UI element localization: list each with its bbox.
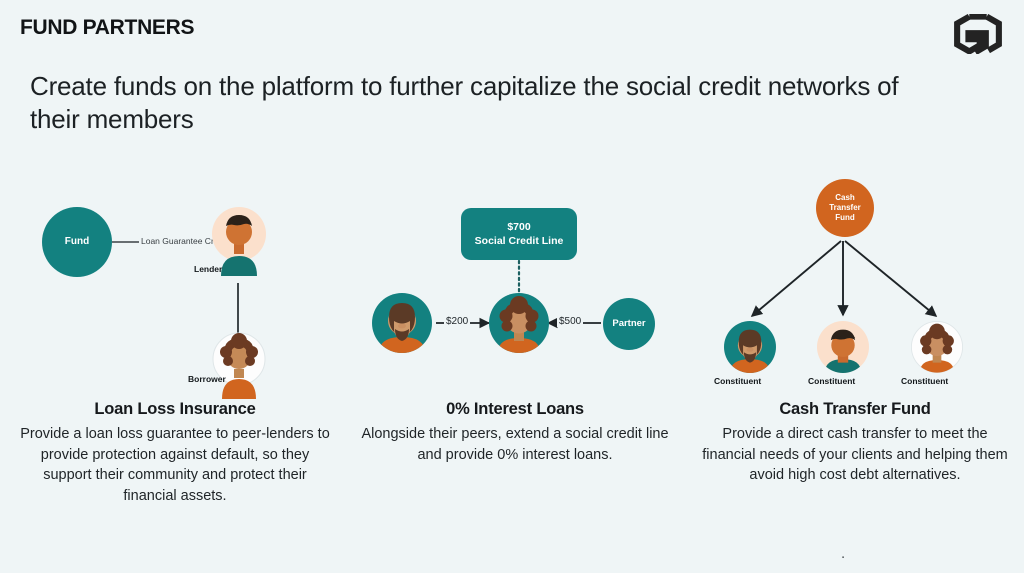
- diagram-zero-interest-loans: $700 Social Credit Line: [348, 175, 680, 405]
- caption-body: Alongside their peers, extend a social c…: [355, 424, 675, 465]
- node-label-borrower: Borrower: [188, 374, 226, 384]
- node-cash-transfer-fund[interactable]: Cash Transfer Fund: [816, 179, 874, 237]
- page-dot-mark: .: [841, 546, 845, 561]
- node-fund[interactable]: Fund: [42, 207, 112, 277]
- caption-title: 0% Interest Loans: [355, 400, 675, 419]
- node-partner[interactable]: Partner: [603, 298, 655, 350]
- avatar-constituent-3[interactable]: [911, 321, 963, 378]
- avatar-constituent-1[interactable]: [724, 321, 776, 378]
- caption-body: Provide a loan loss guarantee to peer-le…: [15, 424, 335, 506]
- node-label-lender: Lender: [194, 264, 222, 274]
- page-title: Create funds on the platform to further …: [30, 70, 930, 137]
- diagram-loan-loss-insurance: Fund Loan Guarantee Credit Lender: [8, 175, 340, 405]
- caption-title: Loan Loss Insurance: [15, 400, 335, 419]
- node-label-constituent-1: Constituent: [714, 376, 761, 386]
- avatar-member[interactable]: [489, 293, 549, 358]
- avatar-constituent-2[interactable]: [817, 321, 869, 378]
- avatar-peer-lender[interactable]: [372, 293, 432, 358]
- node-social-credit-line[interactable]: $700 Social Credit Line: [461, 208, 577, 260]
- caption-loan-loss-insurance: Loan Loss Insurance Provide a loan loss …: [15, 400, 335, 506]
- caption-body: Provide a direct cash transfer to meet t…: [695, 424, 1015, 486]
- node-label-constituent-2: Constituent: [808, 376, 855, 386]
- money-label-200: $200: [444, 316, 470, 327]
- caption-cash-transfer-fund: Cash Transfer Fund Provide a direct cash…: [695, 400, 1015, 486]
- credit-line-amount: $700: [507, 220, 530, 234]
- hexagon-g-logo-icon: [950, 14, 1006, 54]
- caption-zero-interest-loans: 0% Interest Loans Alongside their peers,…: [355, 400, 675, 465]
- connector-lines-1: [8, 175, 340, 405]
- page-kicker: FUND PARTNERS: [20, 16, 194, 40]
- money-label-500: $500: [557, 316, 583, 327]
- credit-line-label: Social Credit Line: [475, 234, 564, 248]
- node-label-constituent-3: Constituent: [901, 376, 948, 386]
- avatar-borrower[interactable]: [211, 327, 267, 404]
- caption-title: Cash Transfer Fund: [695, 400, 1015, 419]
- diagram-cash-transfer-fund: Cash Transfer Fund Constituent: [690, 175, 1022, 405]
- slide-root: FUND PARTNERS Create funds on the platfo…: [0, 0, 1024, 573]
